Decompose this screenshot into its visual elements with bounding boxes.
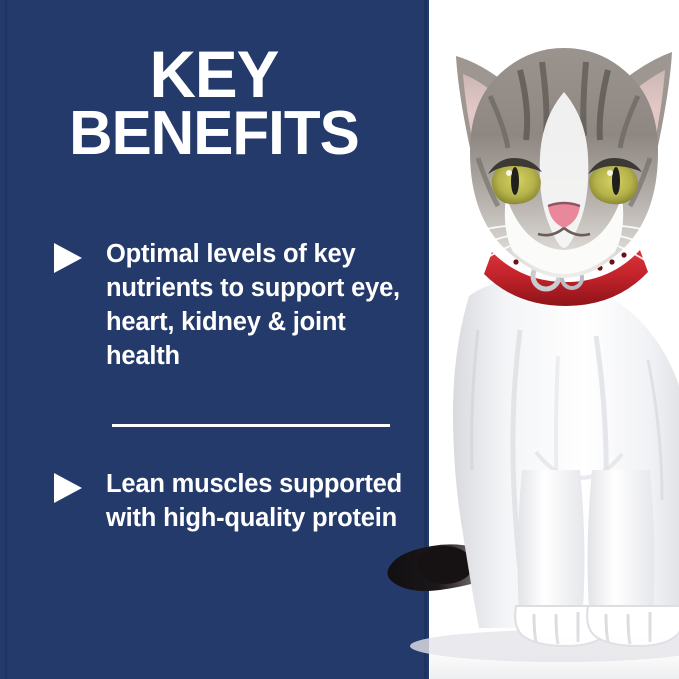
floor-fade [430, 630, 679, 679]
cat-ear-left [456, 56, 546, 148]
benefits-divider [112, 424, 390, 427]
cat-head [444, 48, 679, 286]
page-title-line-1: KEY [20, 44, 408, 105]
cat-collar [484, 250, 648, 306]
cat-paw-left [515, 606, 611, 646]
page-title-line-2: BENEFITS [20, 105, 408, 163]
collar-ring [533, 263, 559, 289]
cat-eye-left [488, 158, 542, 204]
benefit-item-1: Optimal levels of key nutrients to suppo… [54, 238, 404, 374]
collar-buckle [562, 268, 582, 288]
cat-front-legs [515, 470, 679, 646]
cat-eye-right [588, 158, 642, 204]
triangle-right-icon [54, 473, 82, 503]
panel-left-seam [5, 0, 7, 679]
cat-ear-right [582, 52, 672, 146]
triangle-right-icon [54, 243, 82, 273]
cat-paw-right [587, 606, 679, 646]
page-title: KEY BENEFITS [20, 44, 408, 163]
benefit-text-2: Lean muscles supported with high-quality… [106, 468, 404, 536]
key-benefits-poster: KEY BENEFITS Optimal levels of key nutri… [0, 0, 679, 679]
cat-nose [538, 203, 590, 235]
panel-right-seam [424, 0, 427, 679]
benefit-text-1: Optimal levels of key nutrients to suppo… [106, 238, 404, 374]
benefit-item-2: Lean muscles supported with high-quality… [54, 468, 404, 536]
ground-shadow [410, 630, 679, 662]
cat-whiskers [444, 226, 679, 280]
cat-body [453, 278, 679, 628]
